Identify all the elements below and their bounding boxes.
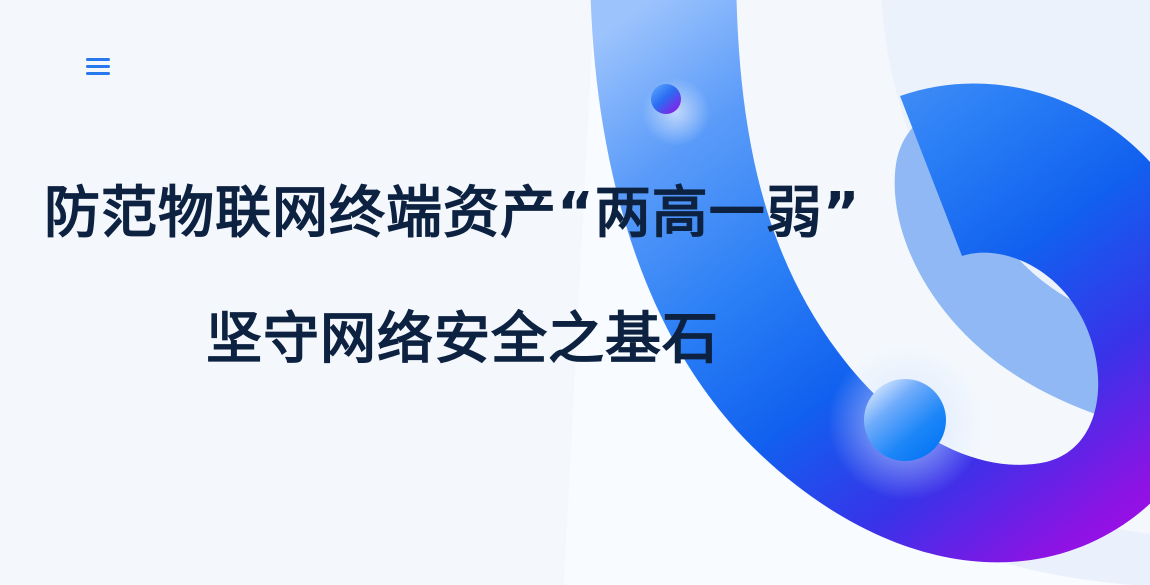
light-blue-arc	[895, 97, 1150, 444]
page-title-line-2: 坚守网络安全之基石	[0, 312, 900, 368]
hamburger-menu-icon-bar-3	[86, 72, 110, 75]
large-blue-sphere	[864, 379, 946, 461]
page-title-line-1: 防范物联网终端资产“两高一弱”	[0, 186, 900, 242]
small-gradient-sphere	[651, 84, 681, 114]
hamburger-menu-icon-bar-2	[86, 65, 110, 68]
hamburger-menu-button[interactable]	[78, 46, 118, 86]
small-sphere-glow	[642, 78, 710, 146]
slide-canvas: 防范物联网终端资产“两高一弱” 坚守网络安全之基石	[0, 0, 1150, 585]
hamburger-menu-icon-bar-1	[86, 58, 110, 61]
pale-ring-top-right	[880, 0, 1150, 356]
page-title: 防范物联网终端资产“两高一弱” 坚守网络安全之基石	[0, 186, 900, 368]
